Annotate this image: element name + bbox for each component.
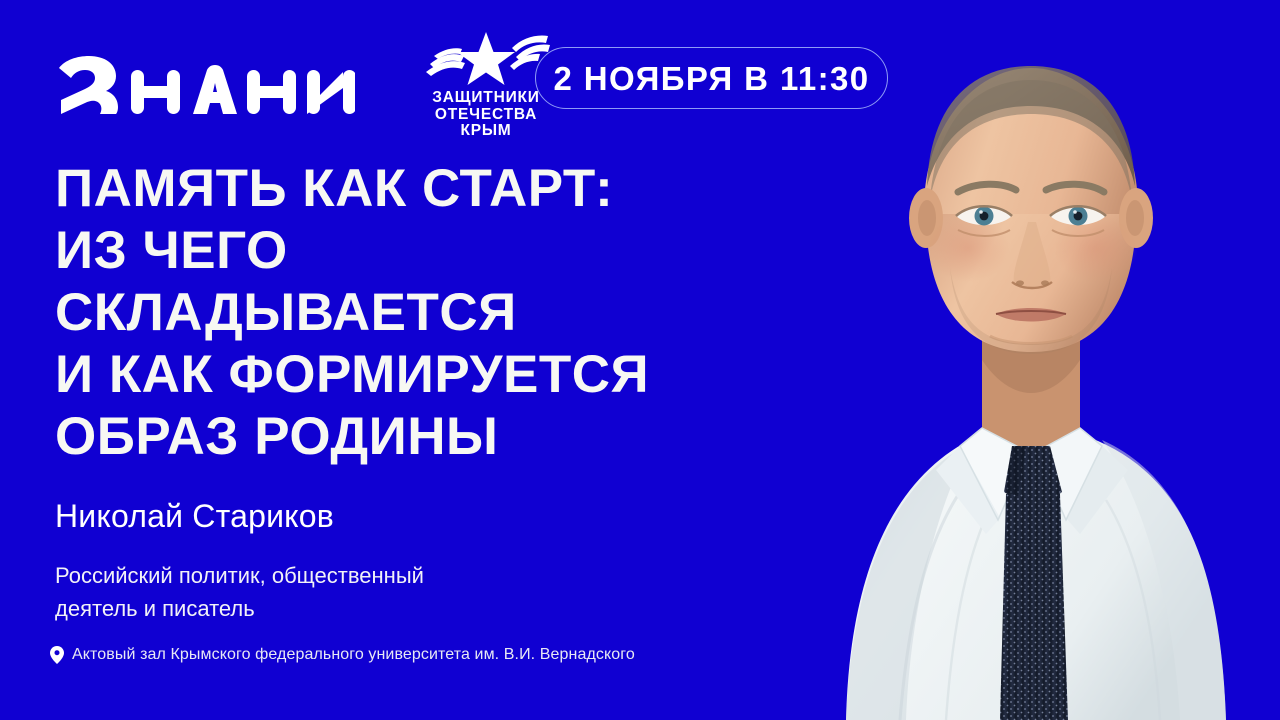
star-ribbon-icon bbox=[420, 30, 552, 88]
znanie-logo[interactable] bbox=[55, 50, 355, 120]
speaker-role-line-2: деятель и писатель bbox=[55, 592, 424, 625]
page-title: ПАМЯТЬ КАК СТАРТ: ИЗ ЧЕГО СКЛАДЫВАЕТСЯ И… bbox=[55, 158, 855, 468]
headline-line-3: СКЛАДЫВАЕТСЯ bbox=[55, 282, 855, 344]
speaker-name: Николай Стариков bbox=[55, 498, 334, 535]
poster-canvas: ЗАЩИТНИКИ ОТЕЧЕСТВА КРЫМ 2 НОЯБРЯ В 11:3… bbox=[0, 0, 1280, 720]
event-date-badge[interactable]: 2 НОЯБРЯ В 11:30 bbox=[535, 47, 888, 109]
venue-text: Актовый зал Крымского федерального униве… bbox=[72, 646, 635, 664]
speaker-role-line-1: Российский политик, общественный bbox=[55, 559, 424, 592]
location-pin-icon bbox=[50, 646, 64, 664]
event-date-label: 2 НОЯБРЯ В 11:30 bbox=[553, 62, 869, 95]
speaker-role: Российский политик, общественный деятель… bbox=[55, 559, 424, 625]
venue: Актовый зал Крымского федерального униве… bbox=[50, 646, 635, 664]
header: ЗАЩИТНИКИ ОТЕЧЕСТВА КРЫМ bbox=[55, 30, 561, 140]
headline-line-5: ОБРАЗ РОДИНЫ bbox=[55, 406, 855, 468]
headline-line-2: ИЗ ЧЕГО bbox=[55, 220, 855, 282]
defenders-line-3: КРЫМ bbox=[432, 123, 539, 140]
defenders-logo-text: ЗАЩИТНИКИ ОТЕЧЕСТВА КРЫМ bbox=[432, 90, 539, 140]
defenders-line-2: ОТЕЧЕСТВА bbox=[432, 107, 539, 124]
headline-line-1: ПАМЯТЬ КАК СТАРТ: bbox=[55, 158, 855, 220]
defenders-line-1: ЗАЩИТНИКИ bbox=[432, 90, 539, 107]
headline-line-4: И КАК ФОРМИРУЕТСЯ bbox=[55, 344, 855, 406]
